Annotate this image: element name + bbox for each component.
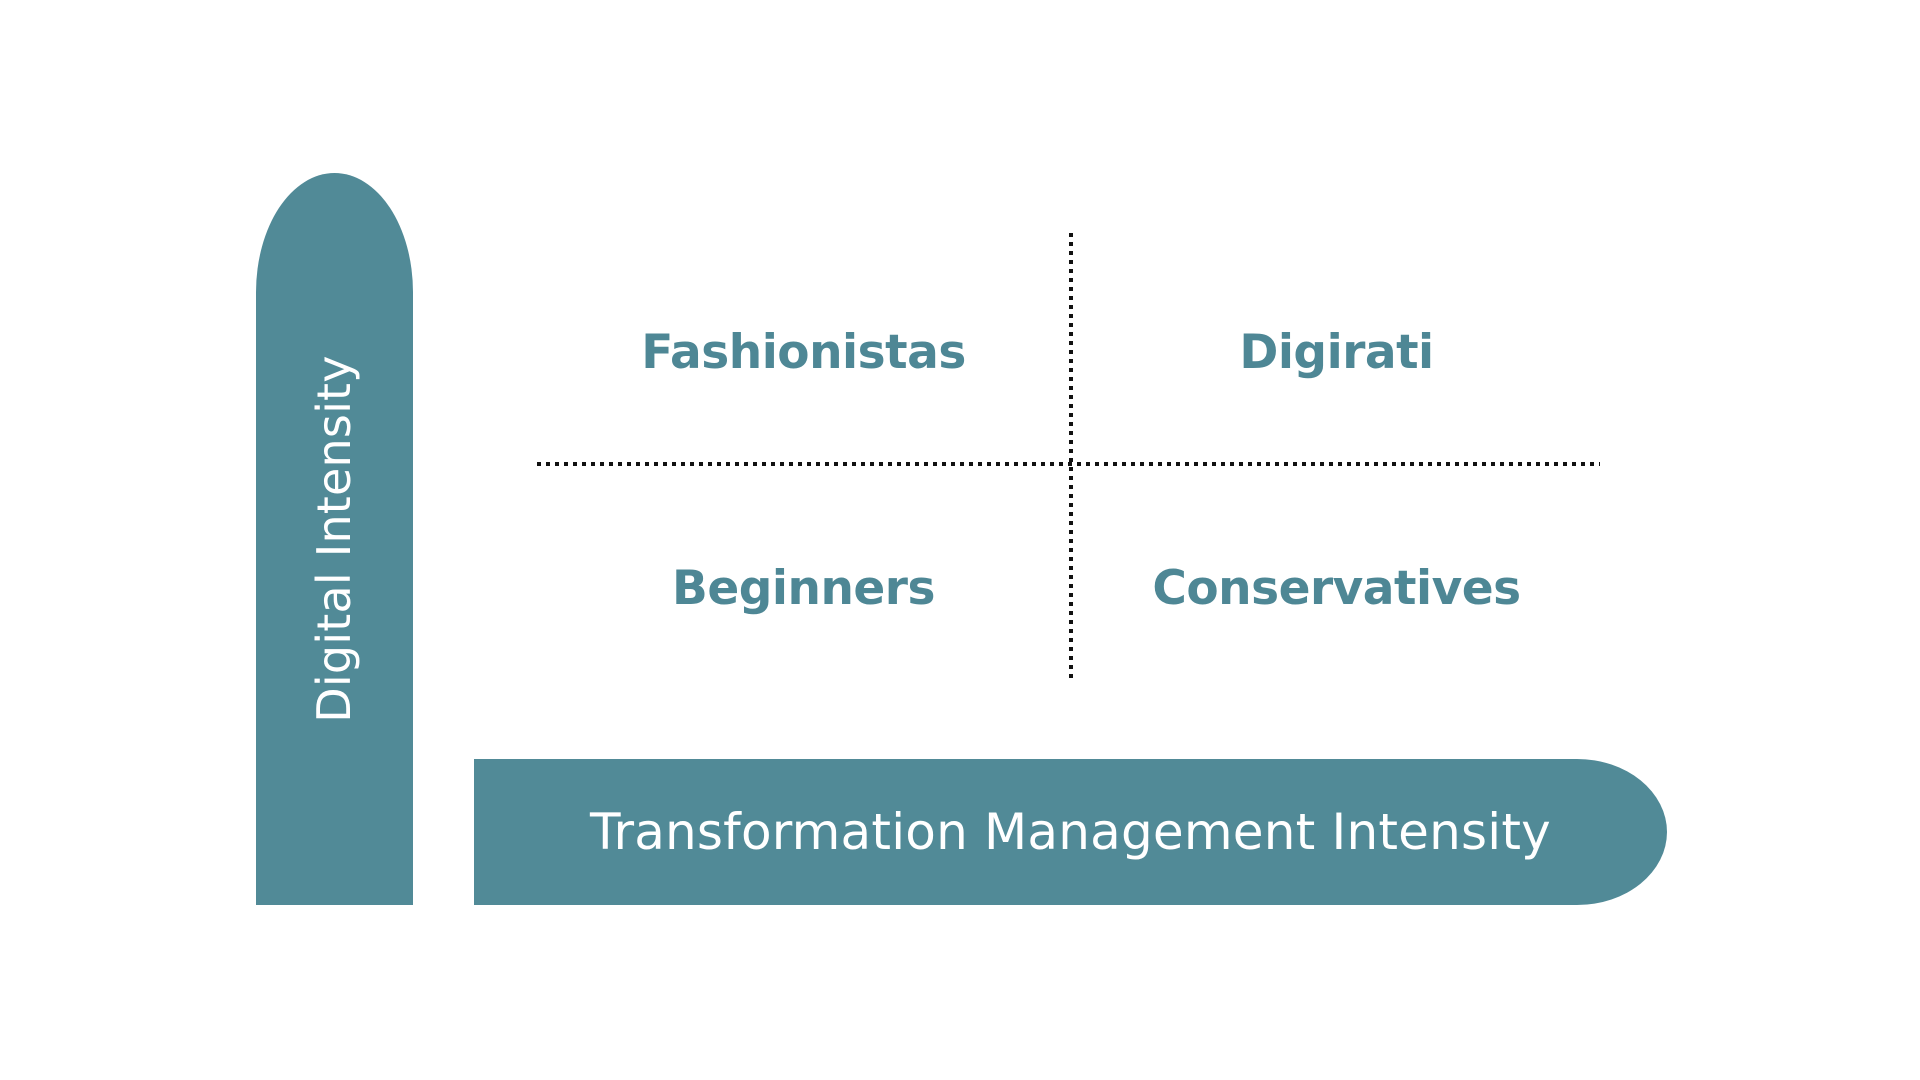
x-axis-label: Transformation Management Intensity (474, 759, 1667, 905)
quadrant-label-digirati: Digirati (1073, 325, 1600, 380)
matrix-diagram-canvas: Digital Intensity Transformation Managem… (0, 0, 1920, 1080)
quadrant-label-beginners: Beginners (537, 561, 1070, 616)
y-axis-label: Digital Intensity (256, 173, 413, 905)
quadrant-label-conservatives: Conservatives (1073, 561, 1600, 616)
quadrant-label-fashionistas: Fashionistas (537, 325, 1070, 380)
